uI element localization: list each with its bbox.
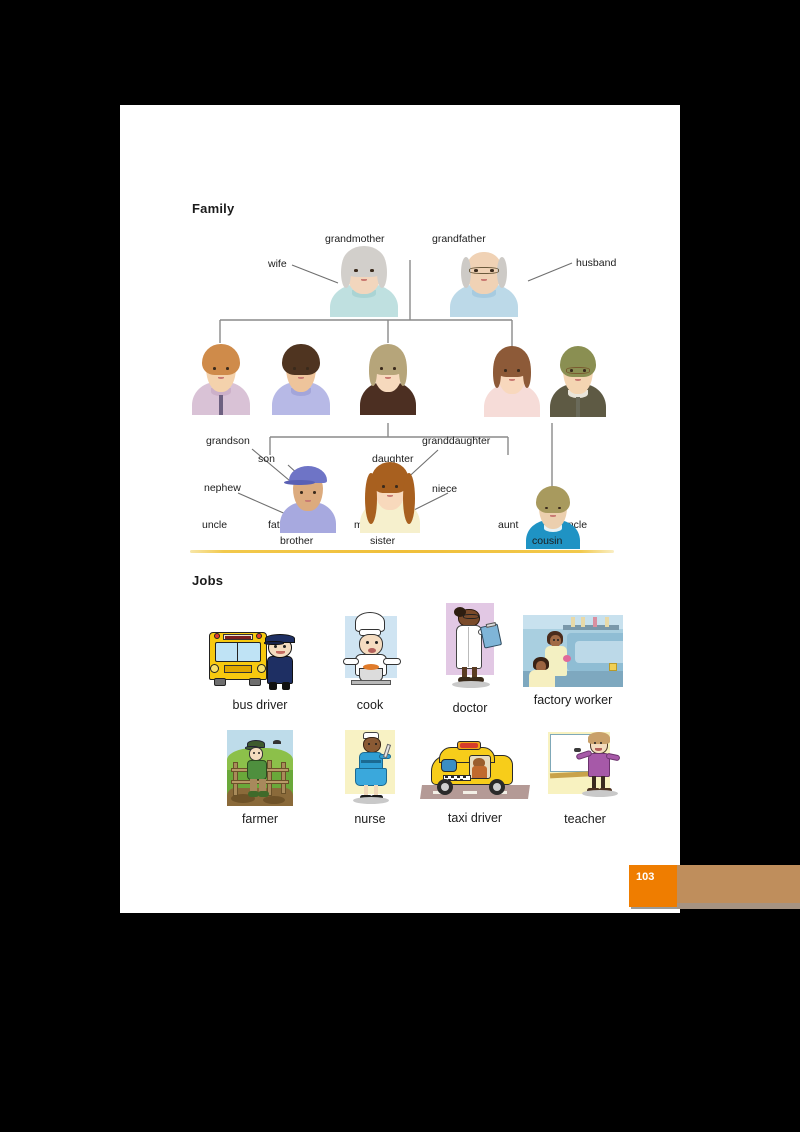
label-niece: niece [432,483,457,495]
portrait-grandfather [450,245,518,317]
label-grandson: grandson [206,435,250,447]
factory-worker-illustration [523,615,623,687]
job-label-farmer: farmer [195,812,325,826]
label-wife: wife [268,258,287,270]
portrait-uncle-left [192,343,250,415]
portrait-brother [280,465,336,533]
label-grandfather: grandfather [432,233,486,245]
farmer-illustration [217,730,303,806]
label-grandmother: grandmother [325,233,385,245]
page-number-badge: 103 [629,865,677,907]
label-cousin: cousin [532,535,562,547]
job-label-bus-driver: bus driver [195,698,325,712]
portrait-father [272,343,330,415]
nurse-illustration [335,730,405,806]
job-item-farmer[interactable]: farmer [195,730,325,826]
label-sister: sister [370,535,395,547]
label-brother: brother [280,535,313,547]
portrait-mother [360,343,416,415]
section-divider [190,550,614,553]
portrait-grandmother [330,245,398,317]
page-footer-bar-shadow-2 [677,903,800,909]
cook-illustration [331,610,409,692]
job-item-factory-worker[interactable]: factory worker [498,615,648,707]
bus-driver-illustration [205,610,315,692]
jobs-section-heading: Jobs [192,573,223,588]
portrait-sister [360,461,420,533]
label-husband: husband [576,257,616,269]
portrait-uncle-right [550,345,606,417]
label-granddaughter: granddaughter [422,435,490,447]
label-aunt: aunt [498,519,518,531]
job-item-teacher[interactable]: teacher [520,730,650,826]
page-footer-bar [677,865,800,903]
page-root: Family [0,0,800,1132]
taxi-driver-illustration [419,733,531,805]
job-label-factory-worker: factory worker [498,693,648,707]
label-uncle-left: uncle [202,519,227,531]
job-item-bus-driver[interactable]: bus driver [195,610,325,712]
label-son: son [258,453,275,465]
family-tree: grandmother grandfather wife husband [120,105,680,565]
job-label-teacher: teacher [520,812,650,826]
teacher-illustration [542,730,628,806]
label-nephew: nephew [204,482,241,494]
portrait-aunt [484,345,540,417]
